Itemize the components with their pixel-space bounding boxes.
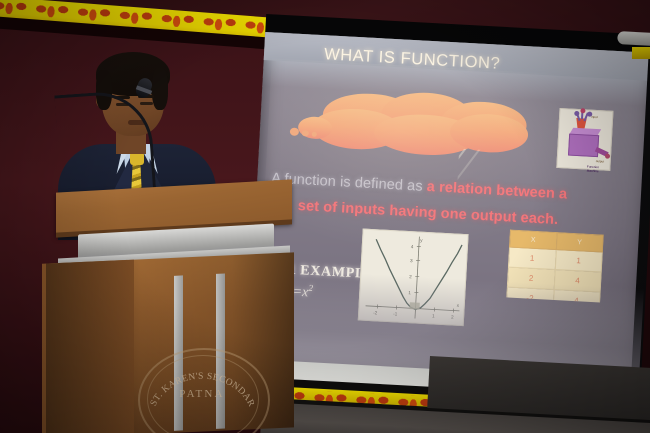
projection-screen: WHAT IS FUNCTION? A function is defined … xyxy=(247,18,650,391)
machine-box-label: Function Machine xyxy=(581,164,604,173)
emblem-city-name: PATNA xyxy=(138,388,266,400)
svg-text:y: y xyxy=(420,238,423,243)
photograph-scene: WHAT IS FUNCTION? A function is defined … xyxy=(0,0,650,433)
screen-side-marker xyxy=(632,47,650,59)
svg-text:ST. KAREN'S SECONDARY SCHOOL: ST. KAREN'S SECONDARY SCHOOL xyxy=(150,358,254,409)
svg-text:4: 4 xyxy=(411,244,414,249)
machine-output-caption: output xyxy=(596,159,605,163)
speaker-hair-side-right xyxy=(152,68,168,110)
function-machine-image: Function Machine input output xyxy=(556,108,613,171)
school-emblem: ST. KAREN'S SECONDARY SCHOOL PATNA xyxy=(138,348,266,433)
machine-input-caption: input xyxy=(591,115,598,119)
svg-text:3: 3 xyxy=(410,258,413,263)
screen-roller-cap xyxy=(617,31,650,46)
emblem-school-name: ST. KAREN'S SECONDARY SCHOOL xyxy=(150,358,254,409)
machine-box: Function Machine xyxy=(568,134,599,158)
table-cell-x: 1 xyxy=(508,247,556,269)
table-cell-y: 1 xyxy=(555,250,603,272)
podium-left-panel xyxy=(42,260,134,433)
